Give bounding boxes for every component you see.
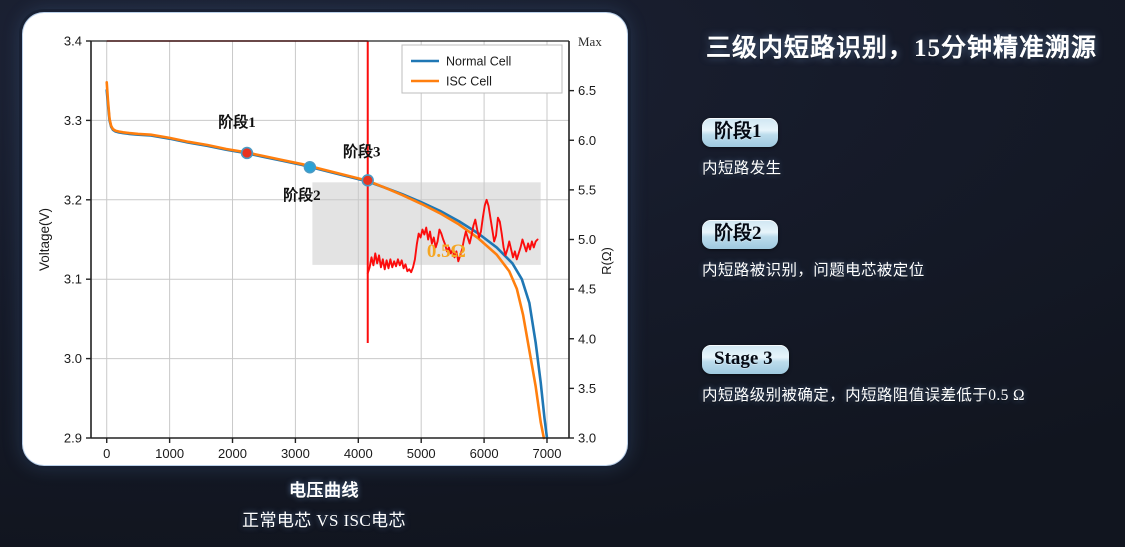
- y2tick-label: 3.0: [578, 431, 596, 446]
- stage-block-2: 阶段2 内短路被识别，问题电芯被定位: [702, 220, 1122, 280]
- marker-stage-1[interactable]: [242, 148, 253, 159]
- xtick-label: 0: [103, 446, 110, 461]
- y2tick-label: 3.5: [578, 381, 596, 396]
- stage-desc-2: 内短路被识别，问题电芯被定位: [702, 258, 1122, 280]
- y2tick-label: 4.5: [578, 282, 596, 297]
- chart-svg: 2.93.03.13.23.33.40100020003000400050006…: [23, 13, 627, 465]
- stage-badge-1: 阶段1: [702, 118, 778, 147]
- stage-badge-3: Stage 3: [702, 345, 789, 374]
- annotation-stage-3: 阶段3: [343, 142, 381, 160]
- voltage-curve-chart: 2.93.03.13.23.33.40100020003000400050006…: [23, 13, 627, 465]
- chart-caption: 电压曲线 正常电芯 VS ISC电芯: [22, 476, 626, 531]
- ytick-label: 2.9: [64, 431, 82, 446]
- annotation-stage-2: 阶段2: [283, 186, 321, 204]
- slide-root: 2.93.03.13.23.33.40100020003000400050006…: [0, 0, 1125, 547]
- right-panel: 三级内短路识别，15分钟精准溯源 阶段1 内短路发生 阶段2 内短路被识别，问题…: [660, 0, 1125, 547]
- y2tick-label: 6.0: [578, 133, 596, 148]
- ytick-label: 3.2: [64, 192, 82, 207]
- marker-stage-3[interactable]: [362, 175, 373, 186]
- ytick-label: 3.1: [64, 272, 82, 287]
- stage-desc-3: 内短路级别被确定，内短路阻值误差低于0.5 Ω: [702, 383, 1122, 405]
- xtick-label: 4000: [344, 446, 373, 461]
- chart-card: 2.93.03.13.23.33.40100020003000400050006…: [22, 12, 628, 466]
- ytick-label: 3.0: [64, 351, 82, 366]
- marker-stage-2[interactable]: [304, 162, 315, 173]
- ytick-label: 3.4: [64, 34, 82, 49]
- legend-label-1: ISC Cell: [446, 75, 492, 89]
- annotation-stage-1: 阶段1: [218, 113, 256, 131]
- xtick-label: 7000: [533, 446, 562, 461]
- xtick-label: 6000: [470, 446, 499, 461]
- caption-title: 电压曲线: [22, 476, 626, 501]
- stage-block-3: Stage 3 内短路级别被确定，内短路阻值误差低于0.5 Ω: [702, 345, 1122, 405]
- xtick-label: 1000: [155, 446, 184, 461]
- y2-max-label: Max: [578, 34, 602, 49]
- caption-subtitle: 正常电芯 VS ISC电芯: [22, 506, 626, 531]
- page-title: 三级内短路识别，15分钟精准溯源: [706, 28, 1125, 64]
- stage-block-1: 阶段1 内短路发生: [702, 118, 1122, 178]
- stage-desc-1: 内短路发生: [702, 156, 1122, 178]
- y-axis-label: Voltage(V): [37, 208, 52, 271]
- xtick-label: 5000: [407, 446, 436, 461]
- y2tick-label: 4.0: [578, 331, 596, 346]
- ytick-label: 3.3: [64, 113, 82, 128]
- y2-axis-label: R(Ω): [599, 247, 614, 275]
- annotation-resistance-error: 0.5Ω: [427, 241, 466, 262]
- y2tick-label: 6.5: [578, 83, 596, 98]
- y2tick-label: 5.5: [578, 182, 596, 197]
- xtick-label: 3000: [281, 446, 310, 461]
- y2tick-label: 5.0: [578, 232, 596, 247]
- legend-label-0: Normal Cell: [446, 55, 511, 69]
- stage-badge-2: 阶段2: [702, 220, 778, 249]
- xtick-label: 2000: [218, 446, 247, 461]
